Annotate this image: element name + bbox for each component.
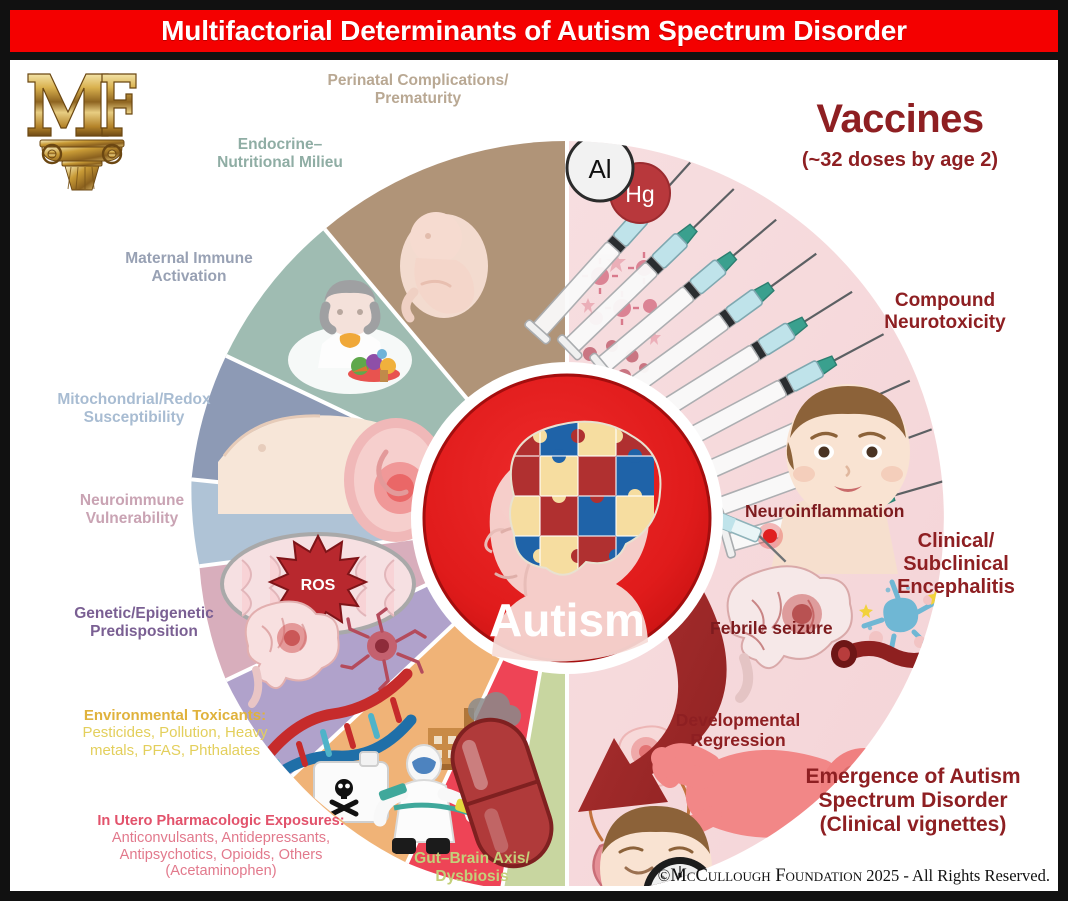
label-environmental-toxicants: Environmental Toxicants: Pesticides, Pol… <box>50 707 300 759</box>
label-developmental-regression: Developmental Regression <box>630 710 846 750</box>
svg-text:ROS: ROS <box>301 577 336 594</box>
label-gut-brain-axis: Gut–Brain Axis/ Dysbiosis <box>372 850 572 886</box>
copyright-year: 2025 - All Rights Reserved. <box>866 866 1050 885</box>
center-hub: Autism <box>411 362 723 674</box>
label-compound-neurotoxicity: Compound Neurotoxicity <box>840 290 1050 334</box>
copyright-notice: ©McCullough Foundation 2025 - All Rights… <box>658 866 1050 887</box>
aluminum-badge-label: Al <box>588 154 611 184</box>
title-bar: Multifactorial Determinants of Autism Sp… <box>8 8 1060 54</box>
label-mitochondrial: Mitochondrial/Redox Susceptibility <box>16 391 252 427</box>
label-maternal-immune: Maternal Immune Activation <box>74 250 304 286</box>
label-endocrine: Endocrine– Nutritional Milieu <box>158 136 402 172</box>
label-neuroinflammation: Neuroinflammation <box>745 501 904 521</box>
infographic-canvas: ROS <box>8 58 1060 893</box>
label-perinatal: Perinatal Complications/ Prematurity <box>288 72 548 108</box>
label-neuroimmune: Neuroimmune Vulnerability <box>32 492 232 528</box>
label-vaccines-subtitle: (~32 doses by age 2) <box>750 149 1050 172</box>
label-vaccines-title: Vaccines <box>750 96 1050 142</box>
copyright-mark: © <box>658 866 671 885</box>
label-febrile-seizure: Febrile seizure <box>710 618 833 638</box>
label-encephalitis: Clinical/ Subclinical Encephalitis <box>850 530 1060 599</box>
label-genetic: Genetic/Epigenetic Predisposition <box>36 605 252 641</box>
page-title: Multifactorial Determinants of Autism Sp… <box>161 15 907 47</box>
label-pharmacologic-exposures: In Utero Pharmacologic Exposures: Antico… <box>68 813 374 880</box>
center-label: Autism <box>489 594 645 646</box>
infographic-frame: Multifactorial Determinants of Autism Sp… <box>0 0 1068 901</box>
copyright-org: McCullough Foundation <box>670 866 862 886</box>
label-emergence-asd: Emergence of Autism Spectrum Disorder (C… <box>768 765 1058 837</box>
